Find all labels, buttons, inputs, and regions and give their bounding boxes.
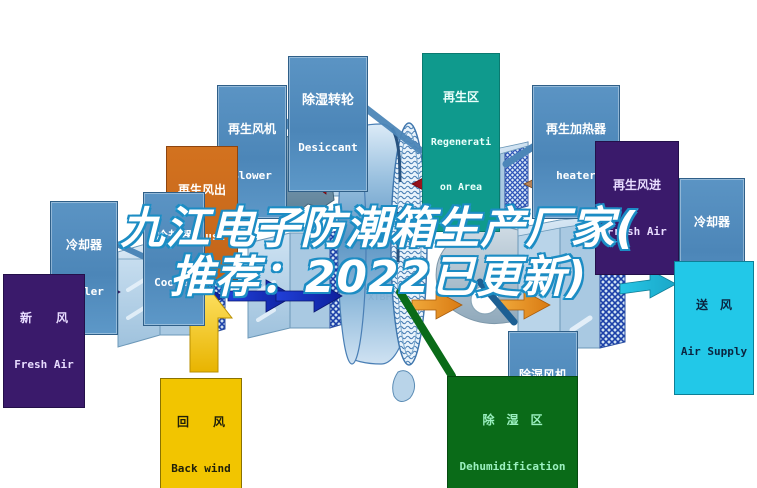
regeneration-heater-label-cn: 再生加热器	[536, 123, 616, 136]
diagram-canvas: XTBH	[0, 0, 757, 488]
back-wind-label-cn: 回 风	[164, 416, 238, 429]
regeneration-area-label-cn: 再生区	[425, 91, 497, 104]
dehumidification-district-label-en: Dehumidification	[451, 461, 574, 473]
regeneration-area-label-en2: on Area	[425, 183, 497, 194]
svg-text:XTBH: XTBH	[368, 293, 392, 303]
air-supply-label-en: Air Supply	[678, 346, 750, 358]
desiccant-wheel-label-cn: 除湿转轮	[292, 94, 364, 108]
regeneration-area-label-en: Regenerati	[425, 138, 497, 149]
desiccant-wheel-label-en: Desiccant	[292, 142, 364, 154]
regeneration-fresh-air-label[interactable]: 再生风进 Fresh Air	[595, 141, 679, 275]
dehumidification-district-label-cn: 除 湿 区	[451, 414, 574, 427]
back-wind-label[interactable]: 回 风 Back wind	[160, 378, 242, 488]
desiccant-wheel-label[interactable]: 除湿转轮 Desiccant	[288, 56, 368, 192]
cooler-label-left-inner-en: Cooler	[147, 277, 201, 289]
cooler-label-right-cn: 冷却器	[683, 216, 741, 229]
air-supply-label[interactable]: 送 风 Air Supply	[674, 261, 754, 395]
regeneration-fresh-air-label-cn: 再生风进	[599, 179, 675, 192]
fresh-air-inlet-label[interactable]: 新 风 Fresh Air	[3, 274, 85, 408]
regeneration-fresh-air-label-en: Fresh Air	[599, 226, 675, 238]
fresh-air-inlet-label-en: Fresh Air	[7, 359, 81, 371]
back-wind-label-en: Back wind	[164, 463, 238, 475]
cooler-label-left-inner[interactable]: 冷却器 Cooler	[143, 192, 205, 326]
dehumidification-district-label[interactable]: 除 湿 区 Dehumidification District	[447, 376, 578, 488]
regeneration-blower-label-cn: 再生风机	[221, 123, 283, 136]
regeneration-area-label[interactable]: 再生区 Regenerati on Area	[422, 53, 500, 232]
cooler-label-left-outer-cn: 冷却器	[54, 239, 114, 252]
air-supply-label-cn: 送 风	[678, 299, 750, 312]
fresh-air-inlet-label-cn: 新 风	[7, 312, 81, 325]
cooler-label-left-inner-cn: 冷却器	[147, 230, 201, 243]
